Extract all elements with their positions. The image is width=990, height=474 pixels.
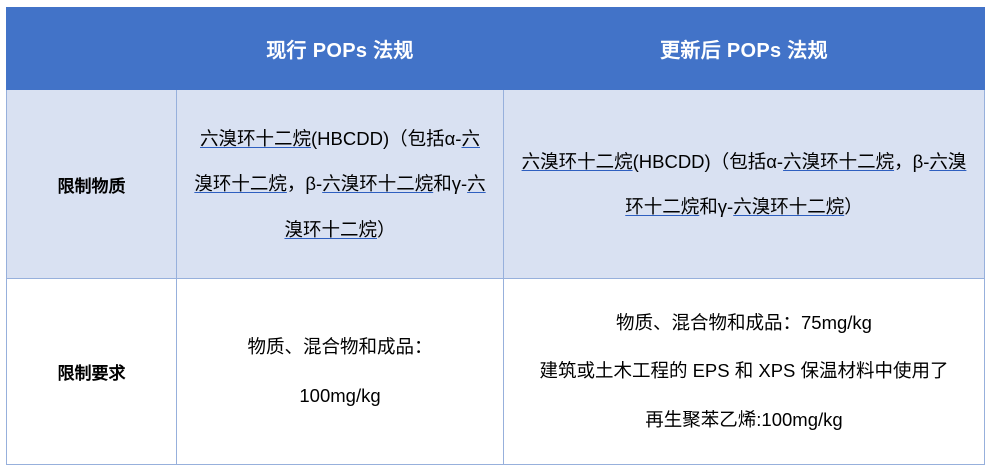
text-line: 物质、混合物和成品： bbox=[191, 323, 489, 371]
pops-comparison-table: 现行 POPs 法规 更新后 POPs 法规 限制物质 六溴环十二烷(HBCDD… bbox=[6, 7, 985, 465]
cell-updated-restricted-substance: 六溴环十二烷(HBCDD)（包括α-六溴环十二烷，β-六溴环十二烷和γ-六溴环十… bbox=[504, 90, 985, 279]
cell-current-restriction-requirement: 物质、混合物和成品：100mg/kg bbox=[177, 279, 504, 465]
pops-comparison-table-wrapper: 现行 POPs 法规 更新后 POPs 法规 限制物质 六溴环十二烷(HBCDD… bbox=[6, 7, 984, 465]
plain-text-run: (HBCDD)（包括α- bbox=[633, 151, 783, 172]
plain-text-run: 和γ- bbox=[433, 173, 467, 194]
row-label-restricted-substance: 限制物质 bbox=[7, 90, 177, 279]
table-row-restricted-substance: 限制物质 六溴环十二烷(HBCDD)（包括α-六溴环十二烷，β-六溴环十二烷和γ… bbox=[7, 90, 985, 279]
text-line: 建筑或土木工程的 EPS 和 XPS 保温材料中使用了 bbox=[518, 347, 970, 395]
cell-updated-restriction-requirement-text: 物质、混合物和成品：75mg/kg建筑或土木工程的 EPS 和 XPS 保温材料… bbox=[504, 295, 984, 447]
cell-current-restricted-substance-text: 六溴环十二烷(HBCDD)（包括α-六溴环十二烷，β-六溴环十二烷和γ-六溴环十… bbox=[177, 112, 503, 256]
plain-text-run: ，β- bbox=[894, 151, 929, 172]
cell-updated-restricted-substance-text: 六溴环十二烷(HBCDD)（包括α-六溴环十二烷，β-六溴环十二烷和γ-六溴环十… bbox=[504, 135, 984, 234]
header-corner-blank bbox=[7, 8, 177, 90]
text-line: 100mg/kg bbox=[191, 372, 489, 420]
plain-text-run: (HBCDD)（包括α- bbox=[311, 128, 461, 149]
text-line: 物质、混合物和成品：75mg/kg bbox=[518, 299, 970, 347]
underlined-term: 六溴环十二烷 bbox=[783, 151, 894, 172]
plain-text-run: ） bbox=[844, 196, 863, 217]
plain-text-run: ） bbox=[377, 219, 396, 240]
cell-current-restriction-requirement-text: 物质、混合物和成品：100mg/kg bbox=[177, 319, 503, 423]
cell-updated-restriction-requirement: 物质、混合物和成品：75mg/kg建筑或土木工程的 EPS 和 XPS 保温材料… bbox=[504, 279, 985, 465]
underlined-term: 六溴环十二烷 bbox=[522, 151, 633, 172]
table-row-restriction-requirement: 限制要求 物质、混合物和成品：100mg/kg 物质、混合物和成品：75mg/k… bbox=[7, 279, 985, 465]
header-updated-regulation: 更新后 POPs 法规 bbox=[504, 8, 985, 90]
underlined-term: 六溴环十二烷 bbox=[322, 173, 433, 194]
header-current-regulation: 现行 POPs 法规 bbox=[177, 8, 504, 90]
cell-current-restricted-substance: 六溴环十二烷(HBCDD)（包括α-六溴环十二烷，β-六溴环十二烷和γ-六溴环十… bbox=[177, 90, 504, 279]
underlined-term: 六溴环十二烷 bbox=[733, 196, 844, 217]
plain-text-run: ，β- bbox=[287, 173, 322, 194]
underlined-term: 六溴环十二烷 bbox=[200, 128, 311, 149]
text-line: 再生聚苯乙烯:100mg/kg bbox=[518, 396, 970, 444]
plain-text-run: 和γ- bbox=[699, 196, 733, 217]
table-header-row: 现行 POPs 法规 更新后 POPs 法规 bbox=[7, 8, 985, 90]
row-label-restriction-requirement: 限制要求 bbox=[7, 279, 177, 465]
